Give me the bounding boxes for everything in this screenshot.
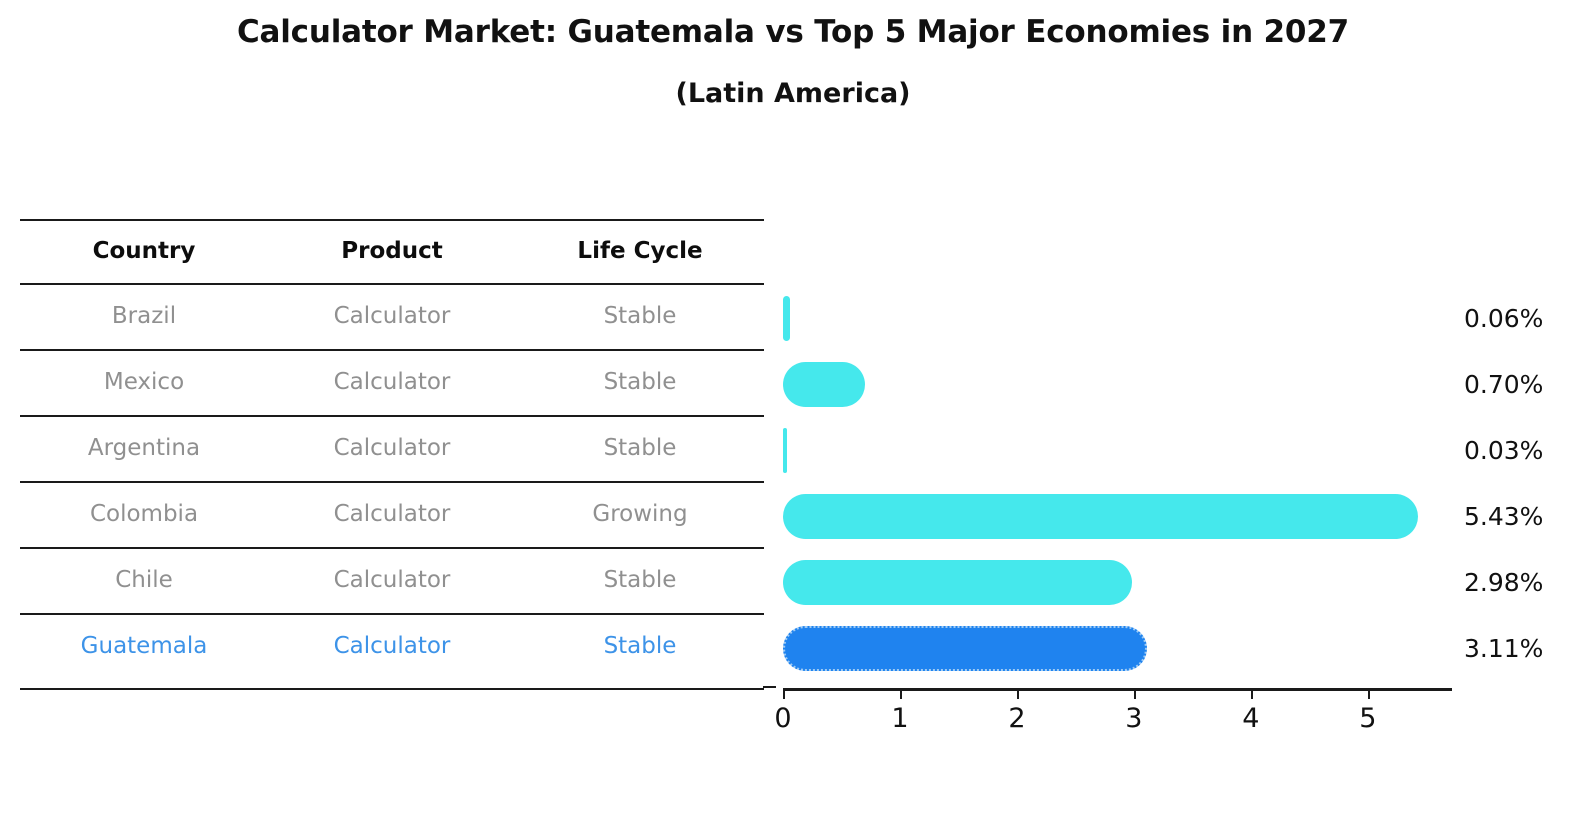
cell-life-cycle: Stable bbox=[516, 303, 764, 329]
cell-product: Calculator bbox=[268, 501, 516, 527]
bar-value-guatemala: 3.11% bbox=[1464, 626, 1543, 671]
x-tick-label-3: 3 bbox=[1125, 703, 1142, 734]
x-tick-mark-3 bbox=[1134, 690, 1136, 699]
table-header-row: Country Product Life Cycle bbox=[20, 219, 764, 283]
bar-brazil[interactable] bbox=[783, 296, 790, 341]
bar-mexico[interactable] bbox=[783, 362, 865, 407]
chart-subtitle: (Latin America) bbox=[0, 78, 1586, 109]
cell-country: Colombia bbox=[20, 501, 268, 527]
bar-track-brazil: 0.06% bbox=[783, 285, 1452, 351]
cell-life-cycle: Growing bbox=[516, 501, 764, 527]
bar-chile[interactable] bbox=[783, 560, 1132, 605]
x-tick-mark-4 bbox=[1251, 690, 1253, 699]
cell-product: Calculator bbox=[268, 633, 516, 659]
x-tick-label-5: 5 bbox=[1359, 703, 1376, 734]
cell-country: Guatemala bbox=[20, 633, 268, 659]
table-row-guatemala[interactable]: Guatemala Calculator Stable bbox=[20, 613, 764, 679]
x-axis: 0 1 2 3 4 5 bbox=[783, 688, 1452, 691]
cell-country: Mexico bbox=[20, 369, 268, 395]
x-tick-mark-2 bbox=[1017, 690, 1019, 699]
bar-value-chile: 2.98% bbox=[1464, 560, 1543, 605]
table-row-argentina[interactable]: Argentina Calculator Stable bbox=[20, 415, 764, 481]
comparison-table: Country Product Life Cycle Brazil Calcul… bbox=[20, 219, 764, 679]
bar-track-guatemala: 3.11% bbox=[783, 615, 1452, 681]
table-row-colombia[interactable]: Colombia Calculator Growing bbox=[20, 481, 764, 547]
table-row-mexico[interactable]: Mexico Calculator Stable bbox=[20, 349, 764, 415]
bar-track-chile: 2.98% bbox=[783, 549, 1452, 615]
column-header-life-cycle: Life Cycle bbox=[516, 238, 764, 264]
cell-product: Calculator bbox=[268, 369, 516, 395]
x-tick-label-0: 0 bbox=[774, 703, 791, 734]
x-tick-mark-1 bbox=[900, 690, 902, 699]
axis-left-stub bbox=[763, 686, 776, 688]
column-header-country: Country bbox=[20, 238, 268, 264]
bar-chart-plot: 0.06% 0.70% 0.03% 5.43% 2.98% 3.11% bbox=[783, 219, 1452, 689]
cell-product: Calculator bbox=[268, 567, 516, 593]
bar-value-argentina: 0.03% bbox=[1464, 428, 1543, 473]
table-row-brazil[interactable]: Brazil Calculator Stable bbox=[20, 283, 764, 349]
bar-track-colombia: 5.43% bbox=[783, 483, 1452, 549]
cell-life-cycle: Stable bbox=[516, 633, 764, 659]
cell-country: Chile bbox=[20, 567, 268, 593]
bar-value-colombia: 5.43% bbox=[1464, 494, 1543, 539]
x-tick-label-1: 1 bbox=[891, 703, 908, 734]
cell-country: Argentina bbox=[20, 435, 268, 461]
bar-guatemala[interactable] bbox=[783, 626, 1147, 671]
cell-life-cycle: Stable bbox=[516, 567, 764, 593]
bar-track-mexico: 0.70% bbox=[783, 351, 1452, 417]
cell-life-cycle: Stable bbox=[516, 369, 764, 395]
column-header-product: Product bbox=[268, 238, 516, 264]
x-tick-label-2: 2 bbox=[1008, 703, 1025, 734]
cell-product: Calculator bbox=[268, 303, 516, 329]
table-rule-bottom bbox=[20, 688, 764, 690]
bar-track-argentina: 0.03% bbox=[783, 417, 1452, 483]
bar-value-brazil: 0.06% bbox=[1464, 296, 1543, 341]
bar-colombia[interactable] bbox=[783, 494, 1418, 539]
cell-product: Calculator bbox=[268, 435, 516, 461]
bar-argentina[interactable] bbox=[783, 428, 787, 473]
table-row-chile[interactable]: Chile Calculator Stable bbox=[20, 547, 764, 613]
x-tick-mark-0 bbox=[783, 690, 785, 699]
cell-life-cycle: Stable bbox=[516, 435, 764, 461]
bar-value-mexico: 0.70% bbox=[1464, 362, 1543, 407]
chart-title: Calculator Market: Guatemala vs Top 5 Ma… bbox=[0, 14, 1586, 50]
cell-country: Brazil bbox=[20, 303, 268, 329]
x-tick-mark-5 bbox=[1368, 690, 1370, 699]
x-tick-label-4: 4 bbox=[1242, 703, 1259, 734]
